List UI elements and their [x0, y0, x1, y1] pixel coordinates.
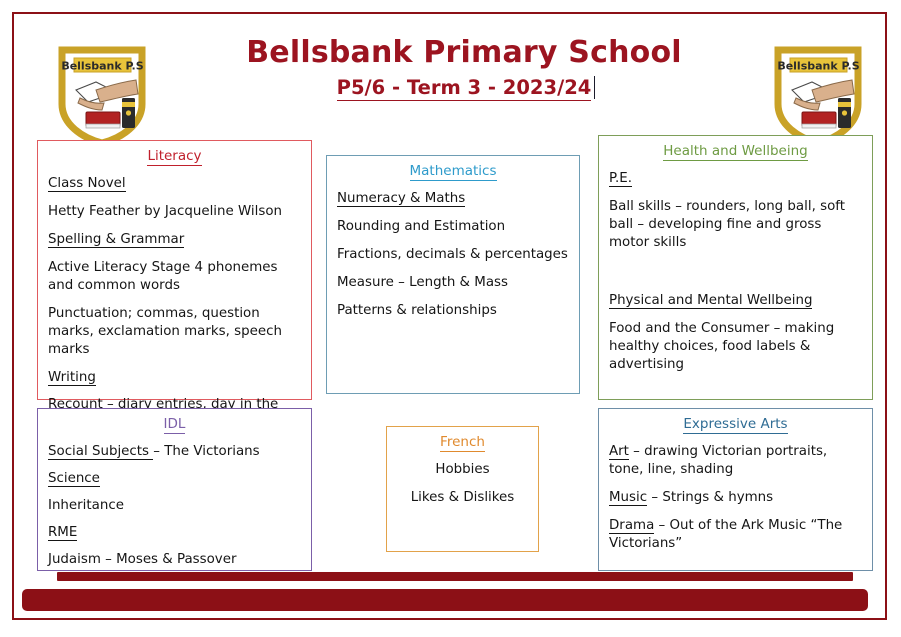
literacy-line-1: Class Novel [48, 175, 301, 193]
health-subheading-pe: P.E. [609, 171, 632, 188]
expressive-arts-line-1: Art – drawing Victorian portraits, tone,… [609, 443, 862, 479]
mathematics-subheading-numeracy: Numeracy & Maths [337, 191, 465, 208]
subject-box-health-and-wellbeing: Health and Wellbeing P.E. Ball skills – … [598, 135, 873, 400]
literacy-subheading-writing: Writing [48, 370, 96, 387]
expressive-arts-line-3: Drama – Out of the Ark Music “The Victor… [609, 517, 862, 553]
health-line-spacer [609, 262, 862, 282]
subject-box-idl: IDL Social Subjects – The Victorians Sci… [37, 408, 312, 571]
bottom-accent-bar-thick [22, 589, 868, 611]
subject-box-mathematics: Mathematics Numeracy & Maths Rounding an… [326, 155, 580, 394]
mathematics-line-4: Measure – Length & Mass [337, 274, 569, 292]
literacy-subheading-spelling-grammar: Spelling & Grammar [48, 232, 184, 249]
idl-line-2: Science [48, 470, 301, 488]
health-line-4: Food and the Consumer – making healthy c… [609, 320, 862, 374]
subject-box-expressive-arts: Expressive Arts Art – drawing Victorian … [598, 408, 873, 571]
title-block: Bellsbank Primary School P5/6 - Term 3 -… [174, 36, 754, 101]
idl-subheading-science: Science [48, 471, 100, 488]
health-title: Health and Wellbeing [609, 143, 862, 161]
school-crest-right-icon: Bellsbank P.S [772, 46, 864, 146]
expressive-arts-line-1-text: – drawing Victorian portraits, tone, lin… [609, 444, 827, 477]
idl-subheading-rme: RME [48, 525, 77, 542]
expressive-arts-title: Expressive Arts [609, 416, 862, 434]
curriculum-poster-page: Bellsbank P.S Bellsbank Primary School P… [0, 0, 901, 637]
literacy-line-3: Spelling & Grammar [48, 231, 301, 249]
school-title: Bellsbank Primary School [174, 36, 754, 70]
literacy-line-4: Active Literacy Stage 4 phonemes and com… [48, 259, 301, 295]
idl-subheading-social-subjects: Social Subjects [48, 444, 153, 461]
expressive-arts-subheading-music: Music [609, 490, 647, 507]
idl-title: IDL [48, 416, 301, 434]
idl-line-4: RME [48, 524, 301, 542]
svg-text:Bellsbank P.S: Bellsbank P.S [61, 60, 143, 73]
mathematics-line-2: Rounding and Estimation [337, 218, 569, 236]
idl-line-5: Judaism – Moses & Passover [48, 551, 301, 569]
literacy-line-2: Hetty Feather by Jacqueline Wilson [48, 203, 301, 221]
literacy-line-5: Punctuation; commas, question marks, exc… [48, 305, 301, 359]
expressive-arts-subheading-drama: Drama [609, 518, 654, 535]
subject-box-french: French Hobbies Likes & Dislikes [386, 426, 539, 552]
health-line-3: Physical and Mental Wellbeing [609, 292, 862, 310]
svg-text:Bellsbank P.S: Bellsbank P.S [777, 60, 859, 73]
mathematics-line-5: Patterns & relationships [337, 302, 569, 320]
idl-line-3: Inheritance [48, 497, 301, 515]
literacy-title: Literacy [48, 148, 301, 166]
subject-box-literacy: Literacy Class Novel Hetty Feather by Ja… [37, 140, 312, 400]
mathematics-line-1: Numeracy & Maths [337, 190, 569, 208]
french-line-1: Hobbies [397, 461, 528, 479]
bottom-accent-bar-thin [57, 572, 853, 581]
expressive-arts-line-2-text: – Strings & hymns [647, 490, 773, 505]
idl-line-1-text: – The Victorians [153, 444, 259, 459]
literacy-line-6: Writing [48, 369, 301, 387]
school-crest-left-icon: Bellsbank P.S [56, 46, 148, 146]
health-subheading-physical-mental-wellbeing: Physical and Mental Wellbeing [609, 293, 812, 310]
french-title: French [397, 434, 528, 452]
idl-line-1: Social Subjects – The Victorians [48, 443, 301, 461]
expressive-arts-subheading-art: Art [609, 444, 629, 461]
mathematics-line-3: Fractions, decimals & percentages [337, 246, 569, 264]
french-line-2: Likes & Dislikes [397, 489, 528, 507]
poster-header: Bellsbank P.S Bellsbank Primary School P… [14, 14, 885, 132]
health-line-1: P.E. [609, 170, 862, 188]
expressive-arts-line-2: Music – Strings & hymns [609, 489, 862, 507]
class-term-subtitle: P5/6 - Term 3 - 2023/24 [337, 76, 592, 101]
literacy-subheading-class-novel: Class Novel [48, 176, 126, 193]
health-line-2: Ball skills – rounders, long ball, soft … [609, 198, 862, 252]
mathematics-title: Mathematics [337, 163, 569, 181]
